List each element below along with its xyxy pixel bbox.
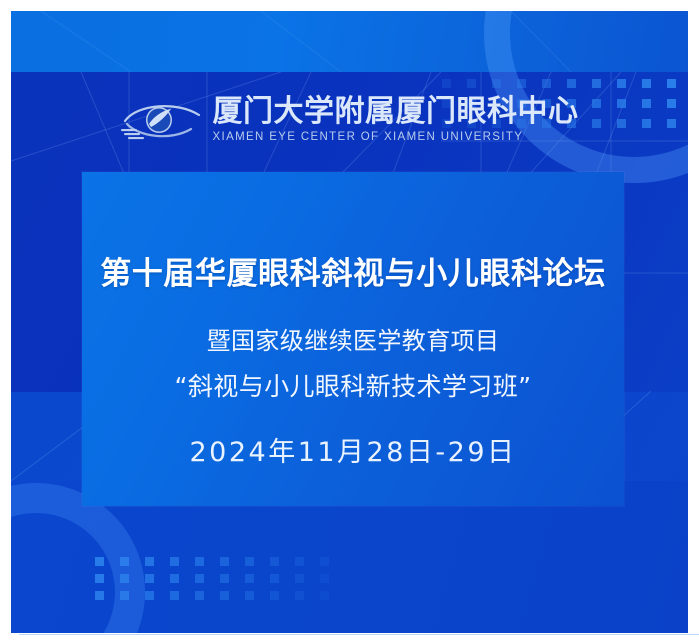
poster-artboard: 厦门大学附属厦门眼科中心 XIAMEN EYE CENTER OF XIAMEN… bbox=[11, 11, 688, 633]
bottom-strip-hairline bbox=[19, 634, 699, 635]
event-title: 第十届华厦眼科斜视与小儿眼科论坛 bbox=[100, 248, 606, 293]
event-subtitle-line-1: 暨国家级继续医学教育项目 bbox=[207, 321, 500, 356]
event-content-panel: 第十届华厦眼科斜视与小儿眼科论坛 暨国家级继续医学教育项目 “斜视与小儿眼科新技… bbox=[82, 172, 624, 506]
organization-name-cn: 厦门大学附属厦门眼科中心 bbox=[213, 97, 579, 127]
event-poster: 厦门大学附属厦门眼科中心 XIAMEN EYE CENTER OF XIAMEN… bbox=[0, 0, 699, 643]
event-subtitle-line-2: “斜视与小儿眼科新技术学习班” bbox=[175, 367, 532, 403]
organization-logo: 厦门大学附属厦门眼科中心 XIAMEN EYE CENTER OF XIAMEN… bbox=[11, 97, 688, 144]
organization-logo-text: 厦门大学附属厦门眼科中心 XIAMEN EYE CENTER OF XIAMEN… bbox=[213, 97, 579, 144]
organization-name-en: XIAMEN EYE CENTER OF XIAMEN UNIVERSITY bbox=[213, 132, 579, 144]
event-date: 2024年11月28日-29日 bbox=[189, 430, 516, 469]
bottom-white-strip bbox=[19, 633, 699, 643]
eye-swoosh-logo-icon bbox=[121, 97, 203, 143]
